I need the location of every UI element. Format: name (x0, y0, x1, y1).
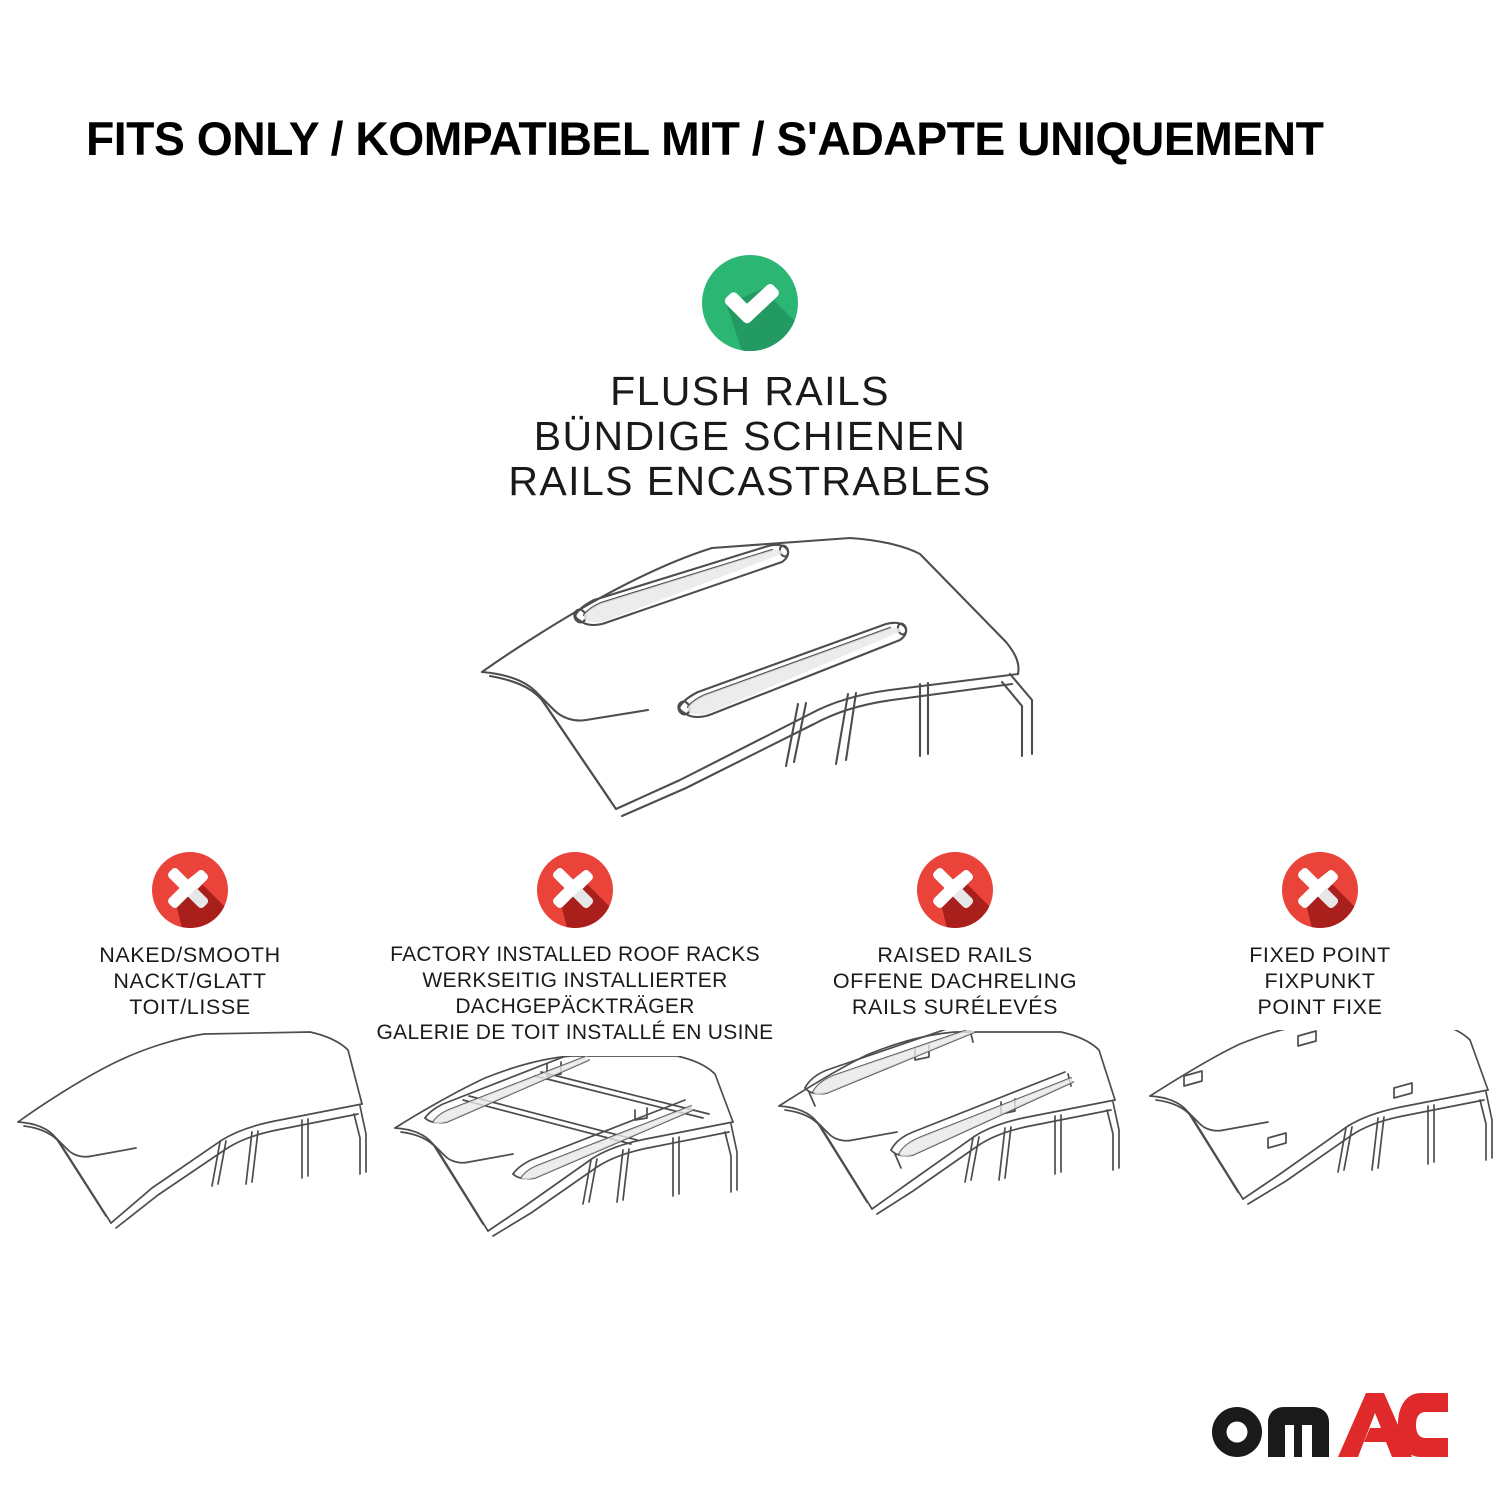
car-roof-flush-rails-illustration (450, 524, 1050, 824)
car-roof-naked-smooth-illustration (10, 1030, 370, 1245)
label-line-2: FIXPUNKT (1249, 968, 1391, 994)
compatibility-infographic: FITS ONLY / KOMPATIBEL MIT / S'ADAPTE UN… (0, 0, 1500, 1500)
incompatible-label-raised-rails: RAISED RAILS OFFENE DACHRELING RAILS SUR… (833, 942, 1077, 1020)
label-line-3: DACHGEPÄCKTRÄGER (377, 994, 774, 1020)
incompatible-item-factory-roof-racks: FACTORY INSTALLED ROOF RACKS WERKSEITIG … (380, 852, 770, 1271)
logo-letter-c (1398, 1393, 1448, 1457)
car-roof-fixed-point-illustration (1140, 1030, 1500, 1245)
label-line-4: GALERIE DE TOIT INSTALLÉ EN USINE (377, 1020, 774, 1046)
label-line-1: FACTORY INSTALLED ROOF RACKS (377, 942, 774, 968)
check-circle-icon (702, 255, 798, 351)
compatible-label-line-2: BÜNDIGE SCHIENEN (508, 414, 991, 459)
compatible-label-line-3: RAILS ENCASTRABLES (508, 459, 991, 504)
logo-letter-m (1268, 1407, 1329, 1457)
omac-logo (1206, 1392, 1448, 1458)
label-line-1: FIXED POINT (1249, 942, 1391, 968)
label-line-1: RAISED RAILS (833, 942, 1077, 968)
incompatible-item-naked-smooth: NAKED/SMOOTH NACKT/GLATT TOIT/LISSE (0, 852, 380, 1245)
x-circle-icon (537, 852, 613, 928)
label-line-3: TOIT/LISSE (99, 994, 281, 1020)
compatible-label-line-1: FLUSH RAILS (508, 369, 991, 414)
label-line-1: NAKED/SMOOTH (99, 942, 281, 968)
car-roof-raised-rails-illustration (765, 1030, 1145, 1245)
logo-letter-o (1212, 1407, 1262, 1457)
label-line-2: NACKT/GLATT (99, 968, 281, 994)
x-circle-icon (917, 852, 993, 928)
page-title: FITS ONLY / KOMPATIBEL MIT / S'ADAPTE UN… (86, 108, 1426, 168)
incompatible-label-factory-roof-racks: FACTORY INSTALLED ROOF RACKS WERKSEITIG … (377, 942, 774, 1046)
incompatible-sections: NAKED/SMOOTH NACKT/GLATT TOIT/LISSE (0, 852, 1500, 1271)
compatible-label: FLUSH RAILS BÜNDIGE SCHIENEN RAILS ENCAS… (508, 369, 991, 504)
incompatible-item-fixed-point: FIXED POINT FIXPUNKT POINT FIXE (1140, 852, 1500, 1245)
page-title-text: FITS ONLY / KOMPATIBEL MIT / S'ADAPTE UN… (86, 111, 1323, 166)
label-line-2: WERKSEITIG INSTALLIERTER (377, 968, 774, 994)
label-line-3: RAILS SURÉLEVÉS (833, 994, 1077, 1020)
compatible-section: FLUSH RAILS BÜNDIGE SCHIENEN RAILS ENCAS… (0, 255, 1500, 824)
incompatible-label-naked-smooth: NAKED/SMOOTH NACKT/GLATT TOIT/LISSE (99, 942, 281, 1020)
x-circle-icon (1282, 852, 1358, 928)
label-line-3: POINT FIXE (1249, 994, 1391, 1020)
x-circle-icon (152, 852, 228, 928)
car-roof-factory-roof-racks-illustration (385, 1056, 765, 1271)
incompatible-label-fixed-point: FIXED POINT FIXPUNKT POINT FIXE (1249, 942, 1391, 1020)
label-line-2: OFFENE DACHRELING (833, 968, 1077, 994)
incompatible-item-raised-rails: RAISED RAILS OFFENE DACHRELING RAILS SUR… (770, 852, 1140, 1245)
